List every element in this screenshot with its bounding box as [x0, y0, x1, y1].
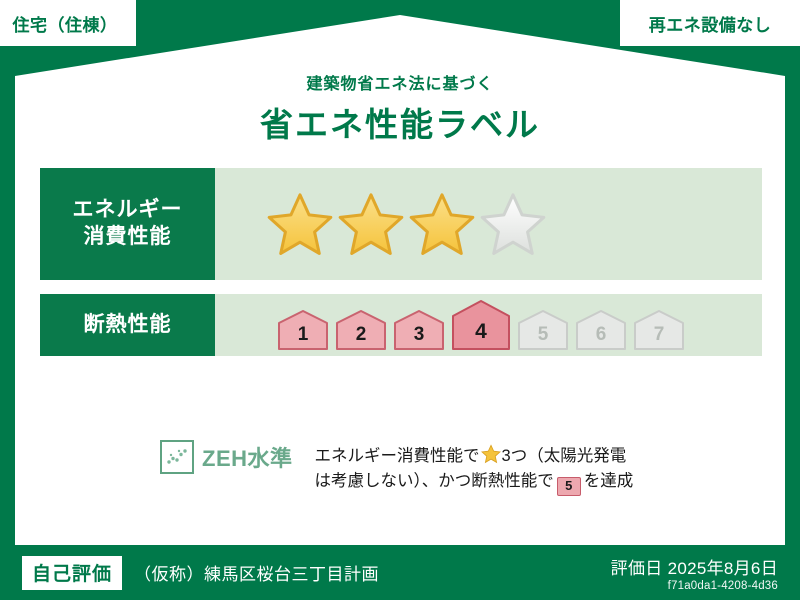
energy-label-card: 住宅（住棟） 再エネ設備なし 建築物省エネ法に基づく 省エネ性能ラベル エネルギ… — [0, 0, 800, 600]
zeh-desc-part2: 3つ（太陽光発電 — [502, 447, 627, 465]
insulation-grade-7: 7 — [633, 310, 685, 350]
renewable-energy-tag: 再エネ設備なし — [620, 0, 800, 46]
insulation-grade-number: 2 — [335, 325, 387, 344]
building-type-tag-label: 住宅（住棟） — [13, 11, 118, 36]
page-title: 省エネ性能ラベル — [0, 98, 800, 146]
title-block: 建築物省エネ法に基づく 省エネ性能ラベル — [0, 70, 800, 146]
footer-bar: 自己評価 （仮称）練馬区桜台三丁目計画 評価日 2025年8月6日 f71a0d… — [0, 545, 800, 600]
insulation-grade-scale: 1234567 — [267, 300, 685, 350]
insulation-grade-number: 7 — [633, 325, 685, 344]
zeh-badge: ZEH水準 — [160, 440, 293, 474]
energy-label-line1: エネルギー — [73, 197, 183, 224]
insulation-performance-body: 1234567 — [215, 294, 762, 356]
insulation-grade-5: 5 — [517, 310, 569, 350]
inline-grade-badge: 5 — [557, 477, 581, 496]
inline-star-icon — [481, 444, 501, 464]
star-rating — [267, 191, 546, 257]
star-filled-icon — [409, 191, 475, 257]
insulation-grade-3: 3 — [393, 310, 445, 350]
star-empty-icon — [480, 191, 546, 257]
zeh-label: ZEH水準 — [202, 441, 293, 473]
project-name: （仮称）練馬区桜台三丁目計画 — [134, 560, 379, 585]
building-type-tag: 住宅（住棟） — [0, 0, 136, 46]
evaluation-id: f71a0da1-4208-4d36 — [611, 580, 778, 592]
renewable-energy-tag-label: 再エネ設備なし — [649, 11, 772, 36]
insulation-performance-label: 断熱性能 — [40, 294, 215, 356]
star-filled-icon — [338, 191, 404, 257]
insulation-grade-number: 5 — [517, 325, 569, 344]
energy-performance-row: エネルギー 消費性能 — [40, 168, 762, 280]
insulation-grade-1: 1 — [277, 310, 329, 350]
rating-rows: エネルギー 消費性能 断熱性能 1234567 — [40, 168, 762, 370]
insulation-label-text: 断熱性能 — [84, 312, 172, 339]
title-subtitle: 建築物省エネ法に基づく — [0, 70, 800, 94]
evaluation-date: 評価日 2025年8月6日 — [611, 554, 778, 579]
insulation-grade-number: 6 — [575, 325, 627, 344]
footer-right: 評価日 2025年8月6日 f71a0da1-4208-4d36 — [611, 554, 778, 592]
zeh-description: エネルギー消費性能で3つ（太陽光発電は考慮しない）、かつ断熱性能で5を達成 — [315, 418, 634, 496]
insulation-performance-row: 断熱性能 1234567 — [40, 294, 762, 356]
zeh-desc-part1: エネルギー消費性能で — [315, 447, 480, 465]
zeh-desc-part3: は考慮しない）、かつ断熱性能で — [315, 472, 554, 490]
self-evaluation-badge: 自己評価 — [22, 556, 122, 590]
star-filled-icon — [267, 191, 333, 257]
zeh-dots-icon — [160, 440, 194, 474]
insulation-grade-6: 6 — [575, 310, 627, 350]
insulation-grade-number: 1 — [277, 325, 329, 344]
insulation-grade-2: 2 — [335, 310, 387, 350]
zeh-standard-block: ZEH水準 エネルギー消費性能で3つ（太陽光発電は考慮しない）、かつ断熱性能で5… — [40, 418, 762, 496]
insulation-grade-number: 3 — [393, 325, 445, 344]
energy-performance-label: エネルギー 消費性能 — [40, 168, 215, 280]
insulation-grade-4: 4 — [451, 300, 511, 350]
insulation-grade-number: 4 — [451, 321, 511, 342]
zeh-desc-part4: を達成 — [584, 472, 634, 490]
footer-left: 自己評価 （仮称）練馬区桜台三丁目計画 — [22, 556, 379, 590]
energy-performance-body — [215, 168, 762, 280]
energy-label-line2: 消費性能 — [84, 224, 172, 251]
